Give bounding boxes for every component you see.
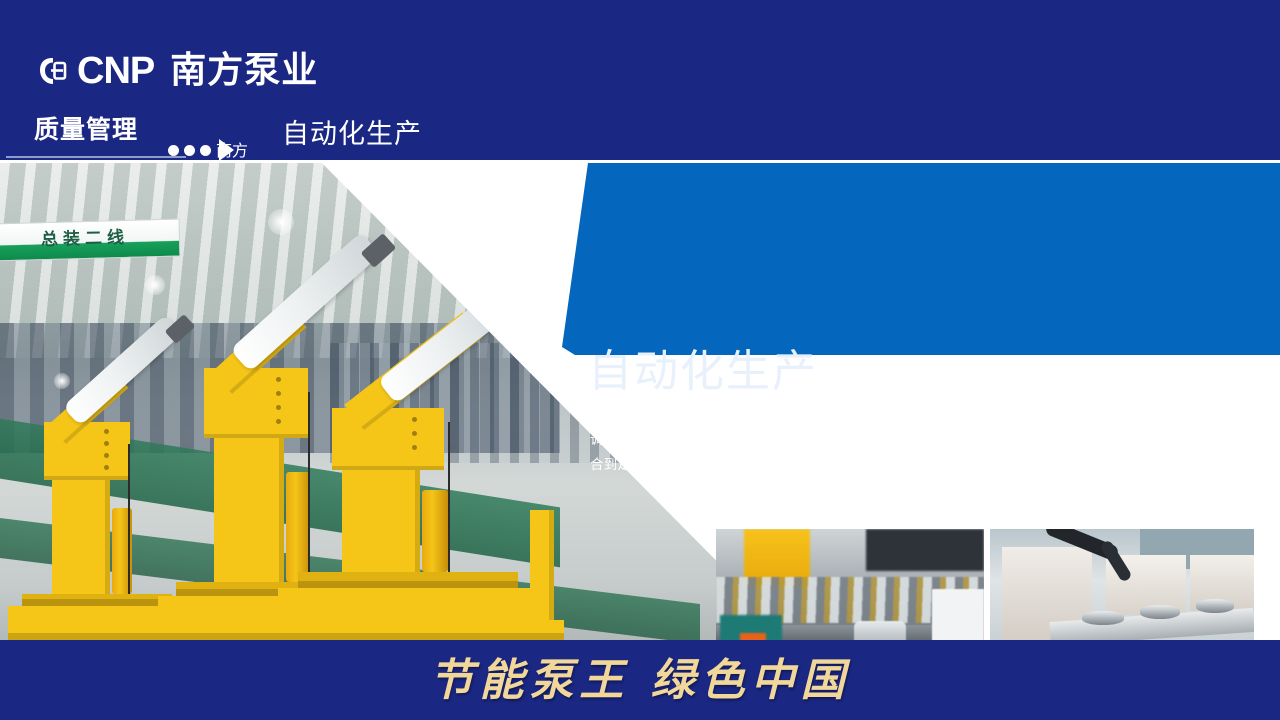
thumbnail-assembly-line-closeup[interactable] — [716, 529, 984, 640]
slide-header: CNP 南方泵业 质量管理 南方 自动化生产 — [0, 0, 1280, 160]
header-rule-line — [6, 156, 186, 158]
page-title: 自动化生产 — [282, 112, 422, 151]
thumb-shape — [1196, 599, 1234, 613]
three-dots-icon — [200, 145, 211, 156]
footer-slogan: 节能泵王 绿色中国 — [0, 644, 1280, 708]
thumb-shape — [1082, 611, 1124, 625]
thumbnail-robot-arm-conveyor[interactable] — [990, 529, 1254, 640]
logo-abbr-text: CNP — [77, 52, 154, 90]
presentation-slide: CNP 南方泵业 质量管理 南方 自动化生产 — [0, 0, 1280, 720]
thumb-shape — [854, 621, 906, 640]
thumb-shape — [1140, 605, 1180, 619]
cnp-logo-mark-icon — [38, 56, 68, 86]
thumbnail-gallery — [0, 163, 1280, 640]
company-logo: CNP 南方泵业 — [38, 52, 318, 90]
three-dots-icon — [184, 145, 195, 156]
nav-sub-label: 南方 — [216, 137, 248, 161]
slide-body: 总装二线 — [0, 163, 1280, 640]
section-label: 质量管理 — [34, 110, 138, 146]
thumb-shape — [866, 529, 984, 571]
thumb-shape — [932, 589, 984, 640]
thumb-shape — [740, 633, 766, 640]
logo-chinese-text: 南方泵业 — [170, 52, 318, 90]
three-dots-icon — [168, 145, 179, 156]
